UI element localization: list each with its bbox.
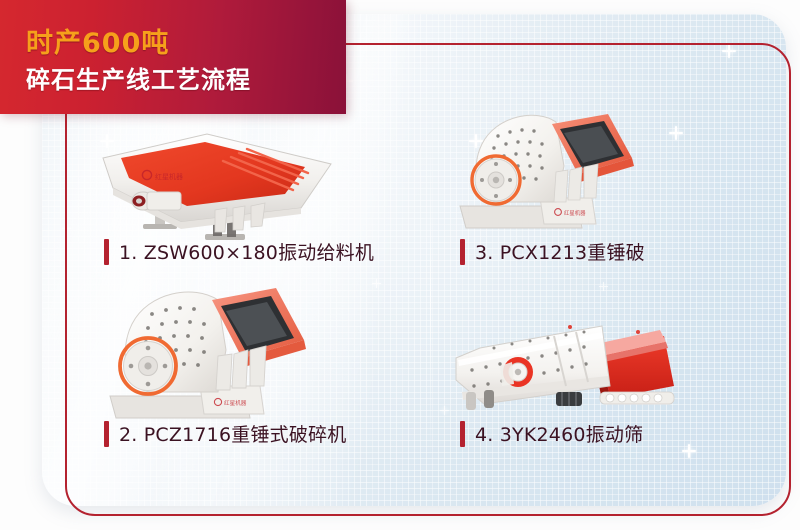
hammer-crusher-icon: 红星机器 bbox=[452, 106, 662, 238]
label-accent-bar bbox=[460, 421, 465, 447]
svg-text:红星机器: 红星机器 bbox=[155, 172, 183, 181]
item-4-label-text: 4. 3YK2460振动筛 bbox=[475, 420, 643, 447]
svg-text:红星机器: 红星机器 bbox=[224, 399, 247, 407]
poster-canvas: 红星机器 1. ZSW600×180振动给料机 bbox=[0, 0, 800, 530]
header-banner: 时产600吨 碎石生产线工艺流程 bbox=[0, 0, 346, 114]
banner-title-line2: 碎石生产线工艺流程 bbox=[26, 60, 251, 95]
item-4-label: 4. 3YK2460振动筛 bbox=[460, 420, 643, 447]
vibrating-feeder-icon: 红星机器 bbox=[95, 118, 345, 248]
item-3-label-text: 3. PCX1213重锤破 bbox=[475, 238, 645, 265]
item-4-figure bbox=[450, 300, 680, 420]
item-2-figure: 红星机器 bbox=[100, 284, 340, 424]
item-3-label: 3. PCX1213重锤破 bbox=[460, 238, 645, 265]
heavy-hammer-crusher-icon: 红星机器 bbox=[100, 284, 340, 426]
item-1-figure: 红星机器 bbox=[95, 118, 345, 248]
svg-text:红星机器: 红星机器 bbox=[564, 209, 586, 217]
vibrating-screen-icon bbox=[450, 300, 680, 420]
item-3-figure: 红星机器 bbox=[452, 106, 662, 236]
label-accent-bar bbox=[460, 239, 465, 265]
banner-title-line1: 时产600吨 bbox=[26, 21, 169, 60]
column-divider bbox=[430, 130, 431, 460]
